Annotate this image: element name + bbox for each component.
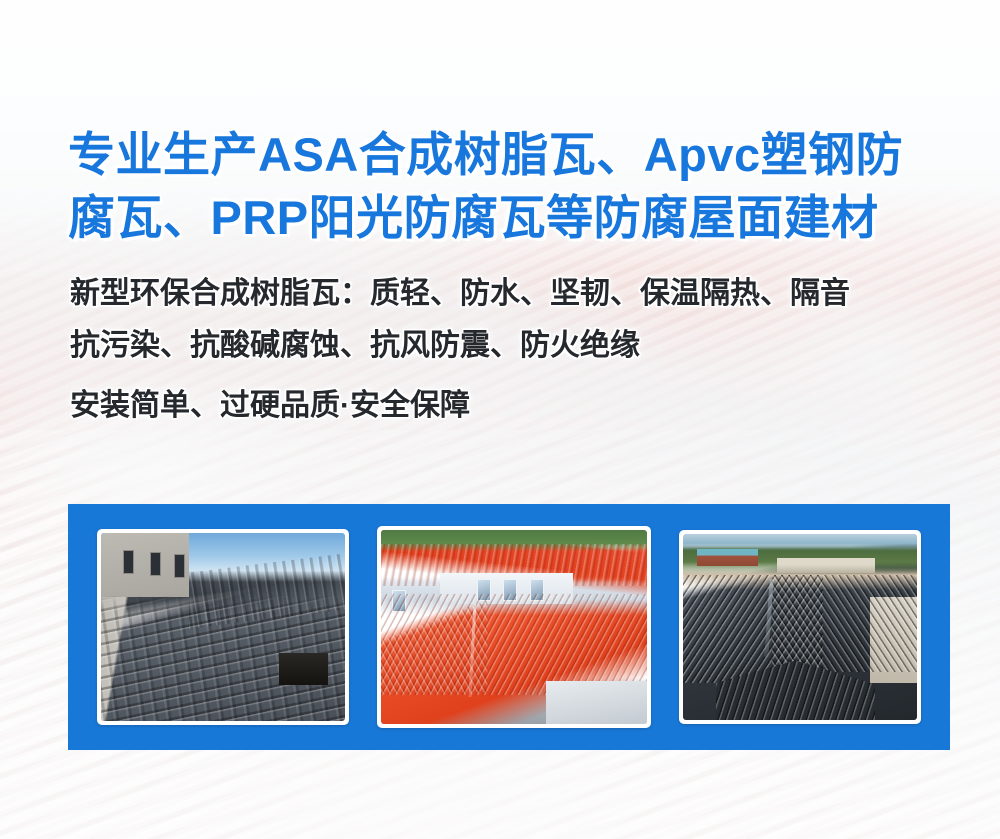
red-resin-tile-roof-photo	[381, 530, 647, 724]
product-photo-gallery	[68, 504, 950, 750]
black-photo-tile-ribs-right	[772, 575, 917, 672]
headline-line-1: 专业生产ASA合成树脂瓦、Apvc塑钢防	[68, 123, 958, 186]
gallery-photo-2[interactable]	[377, 526, 651, 728]
gallery-photo-3[interactable]	[679, 530, 921, 724]
banner-content: 专业生产ASA合成树脂瓦、Apvc塑钢防 腐瓦、PRP阳光防腐瓦等防腐屋面建材 …	[0, 0, 1000, 839]
subheadline-line-3: 安装简单、过硬品质·安全保障	[70, 380, 970, 432]
red-photo-lower-wall	[546, 681, 647, 724]
black-photo-distant-building-white	[777, 558, 875, 573]
grey-photo-tile-ribs	[101, 533, 345, 721]
headline-line-2: 腐瓦、PRP阳光防腐瓦等防腐屋面建材	[68, 186, 958, 249]
gallery-photo-1[interactable]	[97, 529, 349, 725]
black-resin-tile-roof-photo	[683, 534, 917, 720]
banner-subheadline: 新型环保合成树脂瓦：质轻、防水、坚韧、保温隔热、隔音 抗污染、抗酸碱腐蚀、抗风防…	[70, 268, 970, 432]
subheadline-line-2: 抗污染、抗酸碱腐蚀、抗风防震、防火绝缘	[70, 320, 970, 372]
product-banner: 专业生产ASA合成树脂瓦、Apvc塑钢防 腐瓦、PRP阳光防腐瓦等防腐屋面建材 …	[0, 0, 1000, 839]
banner-headline: 专业生产ASA合成树脂瓦、Apvc塑钢防 腐瓦、PRP阳光防腐瓦等防腐屋面建材	[68, 123, 958, 249]
grey-resin-tile-roof-photo	[101, 533, 345, 721]
black-photo-distant-building-red	[697, 549, 758, 566]
subheadline-line-1: 新型环保合成树脂瓦：质轻、防水、坚韧、保温隔热、隔音	[70, 268, 970, 320]
grey-photo-doorway	[279, 653, 328, 685]
